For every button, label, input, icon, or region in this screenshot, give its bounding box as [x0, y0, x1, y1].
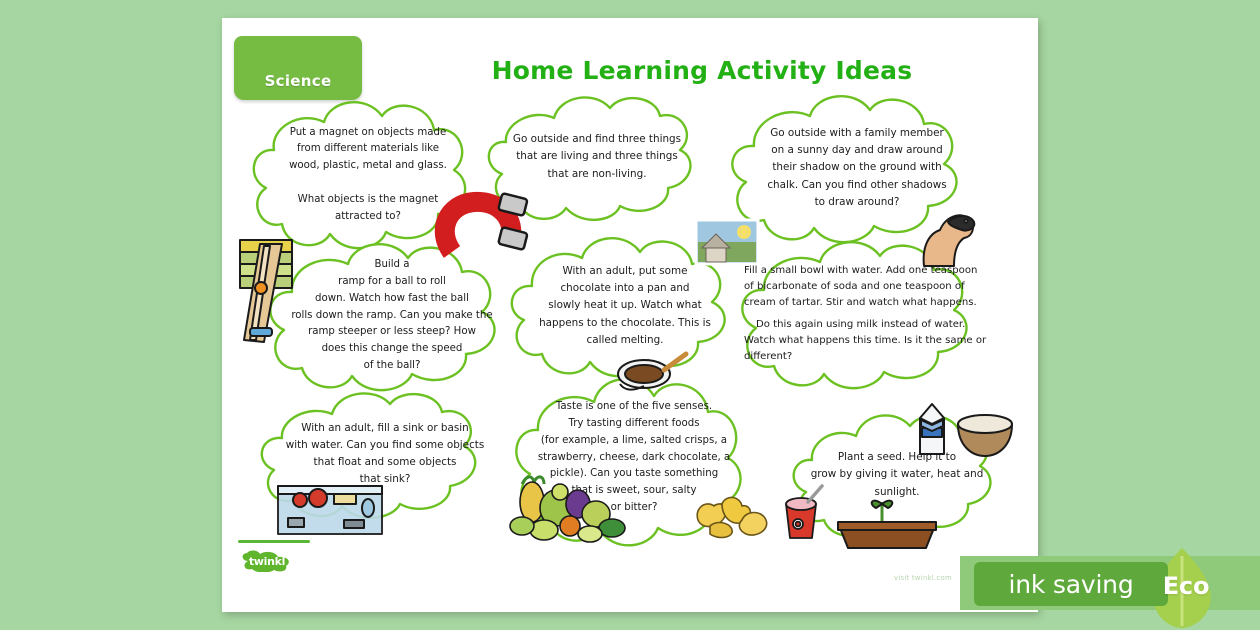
water-tank-icon	[274, 478, 386, 538]
melting-pan-icon	[614, 348, 690, 396]
page-title: Home Learning Activity Ideas	[382, 56, 1022, 85]
ramp-icon	[230, 230, 308, 358]
ink-saving-pill: ink saving	[974, 562, 1168, 606]
subject-tab-label: Science	[265, 72, 332, 90]
crisps-icon	[692, 490, 778, 540]
hand-shadow-icon	[914, 208, 982, 270]
house-photo-icon	[694, 218, 760, 266]
ink-saving-label: ink saving	[974, 562, 1168, 606]
footer-url: visit twinkl.com	[894, 574, 952, 582]
seedling-pot-icon	[832, 486, 942, 550]
mixing-bowl-icon	[954, 412, 1016, 458]
twinkl-logo-text: twinkl	[238, 550, 296, 572]
eco-label: Eco	[1156, 572, 1216, 600]
fruit-vegetables-icon	[504, 470, 630, 546]
eco-saving-badge: ink saving Eco	[960, 542, 1260, 630]
footer-rule	[238, 540, 310, 543]
twinkl-logo[interactable]: twinkl	[238, 550, 296, 572]
milk-carton-icon	[912, 400, 952, 458]
yogurt-pot-icon	[778, 484, 828, 542]
worksheet-page: Science Home Learning Activity Ideas Put…	[222, 18, 1038, 612]
magnet-icon	[430, 190, 538, 264]
